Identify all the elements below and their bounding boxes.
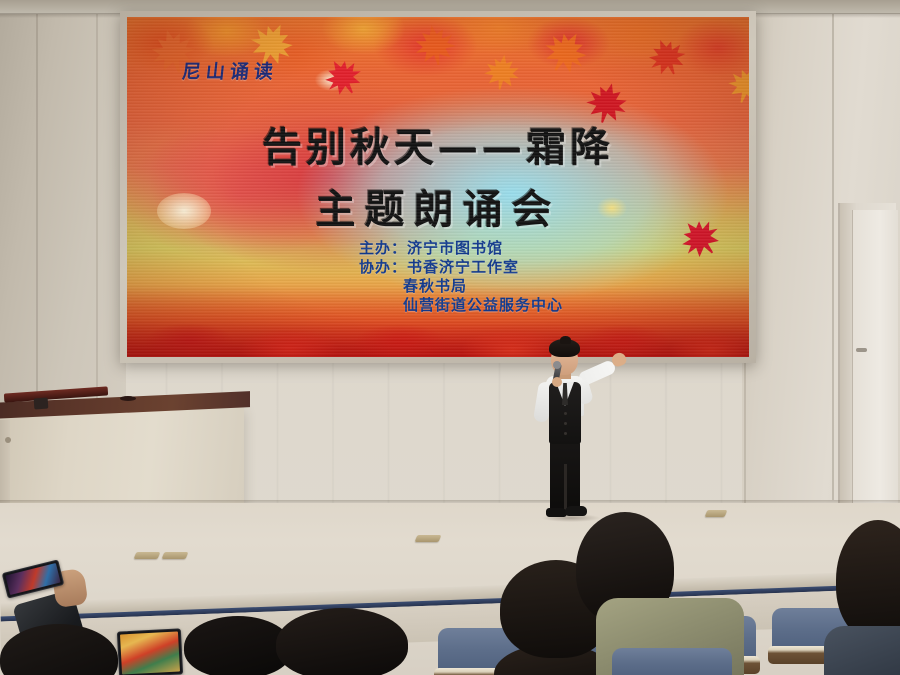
- screen-credits: 主办：济宁市图书馆 协办：书香济宁工作室 春秋书局 仙营街道公益服务中心: [359, 239, 563, 315]
- presenter-shoe-left: [546, 508, 567, 517]
- credit-cohost-value: 书香济宁工作室: [407, 258, 519, 276]
- presenter-hair-tuft: [560, 336, 571, 344]
- door-handle[interactable]: [856, 348, 867, 352]
- credit-cohost-label: 协办：: [359, 258, 407, 276]
- side-exit-door[interactable]: [852, 210, 898, 522]
- maple-leaf-icon-5: [410, 20, 461, 71]
- right-wall-corner-b: [832, 0, 834, 500]
- floor-outlet-plate: [134, 552, 161, 559]
- credit-host-value: 济宁市图书馆: [407, 239, 503, 257]
- credit-cohost-value-2: 春秋书局: [359, 277, 563, 296]
- presenter-hand-holding-mic: [552, 377, 562, 387]
- auditorium-scene: 尼山诵读 告别秋天——霜降 主题朗诵会 主办：济宁市图书馆 协办：书香济宁工作室…: [0, 0, 900, 675]
- presenter-leg-gap: [564, 464, 567, 512]
- led-screen: 尼山诵读 告别秋天——霜降 主题朗诵会 主办：济宁市图书馆 协办：书香济宁工作室…: [127, 17, 749, 357]
- credit-cohost-line: 协办：书香济宁工作室: [359, 258, 563, 277]
- screen-title-sub: 主题朗诵会: [127, 177, 749, 235]
- audience-shoulder: [824, 626, 900, 675]
- smartphone-recording-2[interactable]: [117, 628, 183, 675]
- floor-outlet-plate: [415, 535, 442, 542]
- credit-host-label: 主办：: [359, 239, 407, 257]
- phone-screen-preview: [120, 632, 180, 675]
- seat-cushion: [612, 648, 732, 675]
- microphone-head-icon: [553, 361, 561, 369]
- screen-title-main: 告别秋天——霜降: [127, 115, 749, 173]
- credit-cohost-value-3: 仙营街道公益服务中心: [359, 296, 563, 315]
- presenter-vest-button: [564, 412, 567, 415]
- auditorium-seat-front[interactable]: 11: [612, 648, 732, 675]
- lectern-cable-port: [120, 396, 136, 401]
- presenter-boy: [520, 336, 642, 532]
- presenter-vest-button: [564, 422, 567, 425]
- presenter-vest-button: [564, 432, 567, 435]
- presenter-shoe-right: [565, 506, 587, 516]
- maple-leaf-icon-10: [481, 51, 524, 94]
- lectern-latch[interactable]: [5, 437, 11, 443]
- floor-outlet-plate: [162, 552, 189, 559]
- credit-host-line: 主办：济宁市图书馆: [359, 239, 563, 258]
- lectern-microphone-base: [34, 398, 49, 410]
- floor-outlet-plate: [705, 510, 728, 517]
- screen-brand-line: 尼山诵读: [181, 57, 280, 84]
- audience-head-3: [276, 608, 408, 675]
